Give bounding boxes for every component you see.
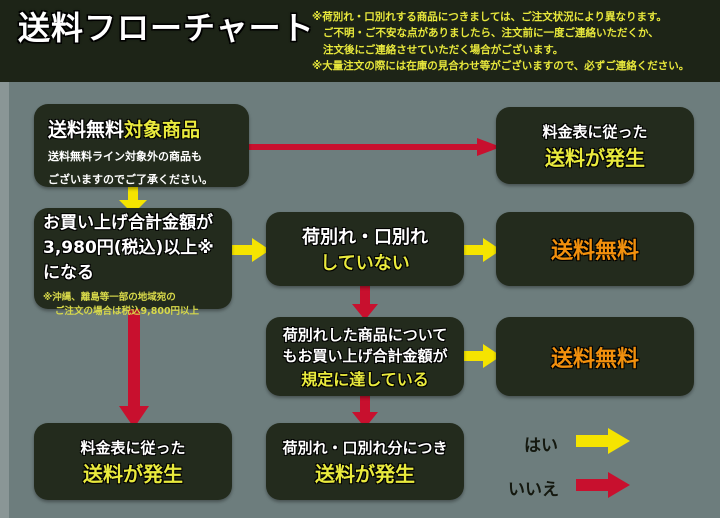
node-fee-applies-bottom: 料金表に従った 送料が発生 (34, 423, 232, 500)
node-free-shipping-target-title-white: 送料無料 (48, 119, 124, 141)
node-free-shipping-1: 送料無料 (496, 212, 694, 286)
node-fee-for-split-shipment-line-2: 送料が発生 (315, 458, 415, 487)
node-free-shipping-target-sub-1: 送料無料ライン対象外の商品も (48, 149, 202, 165)
legend-no-label: いいえ (508, 475, 576, 500)
node-free-shipping-target-title: 送料無料対象商品 (48, 115, 200, 142)
node-fee-applies-top-line-2: 送料が発生 (545, 142, 645, 171)
node-order-total-amount-note-2: ご注文の場合は税込9,800円以上 (43, 305, 199, 318)
arrow-no-split-no-to-split-amount (352, 282, 378, 320)
node-free-shipping-target-sub-2: ございますのでご了承ください。 (48, 172, 213, 188)
flowchart-canvas: 送料無料対象商品 送料無料ライン対象外の商品も ございますのでご了承ください。 … (0, 82, 720, 518)
node-no-split-shipment-line-2: していない (320, 249, 409, 275)
node-split-shipment-amount-line-1: 荷別れした商品について (283, 324, 448, 345)
node-split-shipment-amount-line-3: 規定に達している (301, 366, 429, 390)
node-free-shipping-2: 送料無料 (496, 317, 694, 396)
node-fee-for-split-shipment-line-1: 荷別れ・口別れ分につき (282, 437, 447, 458)
node-split-shipment-amount-line-2: もお買い上げ合計金額が (282, 345, 447, 366)
node-free-shipping-target-title-yellow: 対象商品 (124, 119, 200, 141)
header-note-4: ※大量注文の際には在庫の見合わせ等がございますので、必ずご連絡ください。 (312, 58, 712, 74)
arrow-yes-split-amount-to-free-2 (461, 344, 501, 368)
header-note-3: 注文後にご連絡させていただく場合がございます。 (312, 42, 712, 58)
shipping-flowchart-page: 送料フローチャート ※荷別れ・口別れする商品につきましては、ご注文状況により異な… (0, 0, 720, 518)
header-bar: 送料フローチャート ※荷別れ・口別れする商品につきましては、ご注文状況により異な… (0, 0, 720, 82)
node-order-total-amount-line-3: になる (43, 258, 94, 283)
node-fee-for-split-shipment: 荷別れ・口別れ分につき 送料が発生 (266, 423, 464, 500)
header-note-2: ご不明・ご不安な点がありましたら、注文前に一度ご連絡いただくか、 (312, 25, 712, 41)
node-fee-applies-top-line-1: 料金表に従った (542, 121, 647, 142)
node-order-total-amount-line-1: お買い上げ合計金額が (43, 208, 213, 233)
legend-yes-label: はい (508, 431, 576, 456)
node-split-shipment-amount: 荷別れした商品について もお買い上げ合計金額が 規定に達している (266, 317, 464, 396)
legend-no-arrow-icon (576, 472, 630, 502)
left-edge-strip (0, 82, 9, 518)
node-fee-applies-top: 料金表に従った 送料が発生 (496, 107, 694, 184)
arrow-yes-split-no-to-free-1 (461, 238, 501, 262)
node-fee-applies-bottom-line-2: 送料が発生 (83, 458, 183, 487)
node-order-total-amount-line-2: 3,980円(税込)以上※ (43, 233, 214, 258)
node-free-shipping-target: 送料無料対象商品 送料無料ライン対象外の商品も ございますのでご了承ください。 (34, 104, 249, 187)
node-no-split-shipment-line-1: 荷別れ・口別れ (302, 223, 428, 249)
legend-row-no: いいえ (508, 472, 630, 502)
header-note-1: ※荷別れ・口別れする商品につきましては、ご注文状況により異なります。 (312, 9, 712, 25)
legend: はい いいえ (508, 420, 708, 504)
arrow-yes-amount-to-split-no (228, 238, 270, 262)
arrow-no-free-target-to-fee-top (239, 138, 501, 156)
legend-yes-arrow-icon (576, 428, 630, 458)
node-order-total-amount: お買い上げ合計金額が 3,980円(税込)以上※ になる ※沖縄、離島等一部の地… (34, 208, 232, 309)
node-free-shipping-2-label: 送料無料 (551, 341, 639, 373)
node-order-total-amount-note-1: ※沖縄、離島等一部の地域宛の (43, 291, 176, 304)
legend-row-yes: はい (508, 428, 630, 458)
page-title: 送料フローチャート (18, 12, 315, 44)
node-fee-applies-bottom-line-1: 料金表に従った (80, 437, 185, 458)
header-notes: ※荷別れ・口別れする商品につきましては、ご注文状況により異なります。 ご不明・ご… (312, 9, 712, 74)
node-no-split-shipment: 荷別れ・口別れ していない (266, 212, 464, 286)
node-free-shipping-1-label: 送料無料 (551, 233, 639, 265)
